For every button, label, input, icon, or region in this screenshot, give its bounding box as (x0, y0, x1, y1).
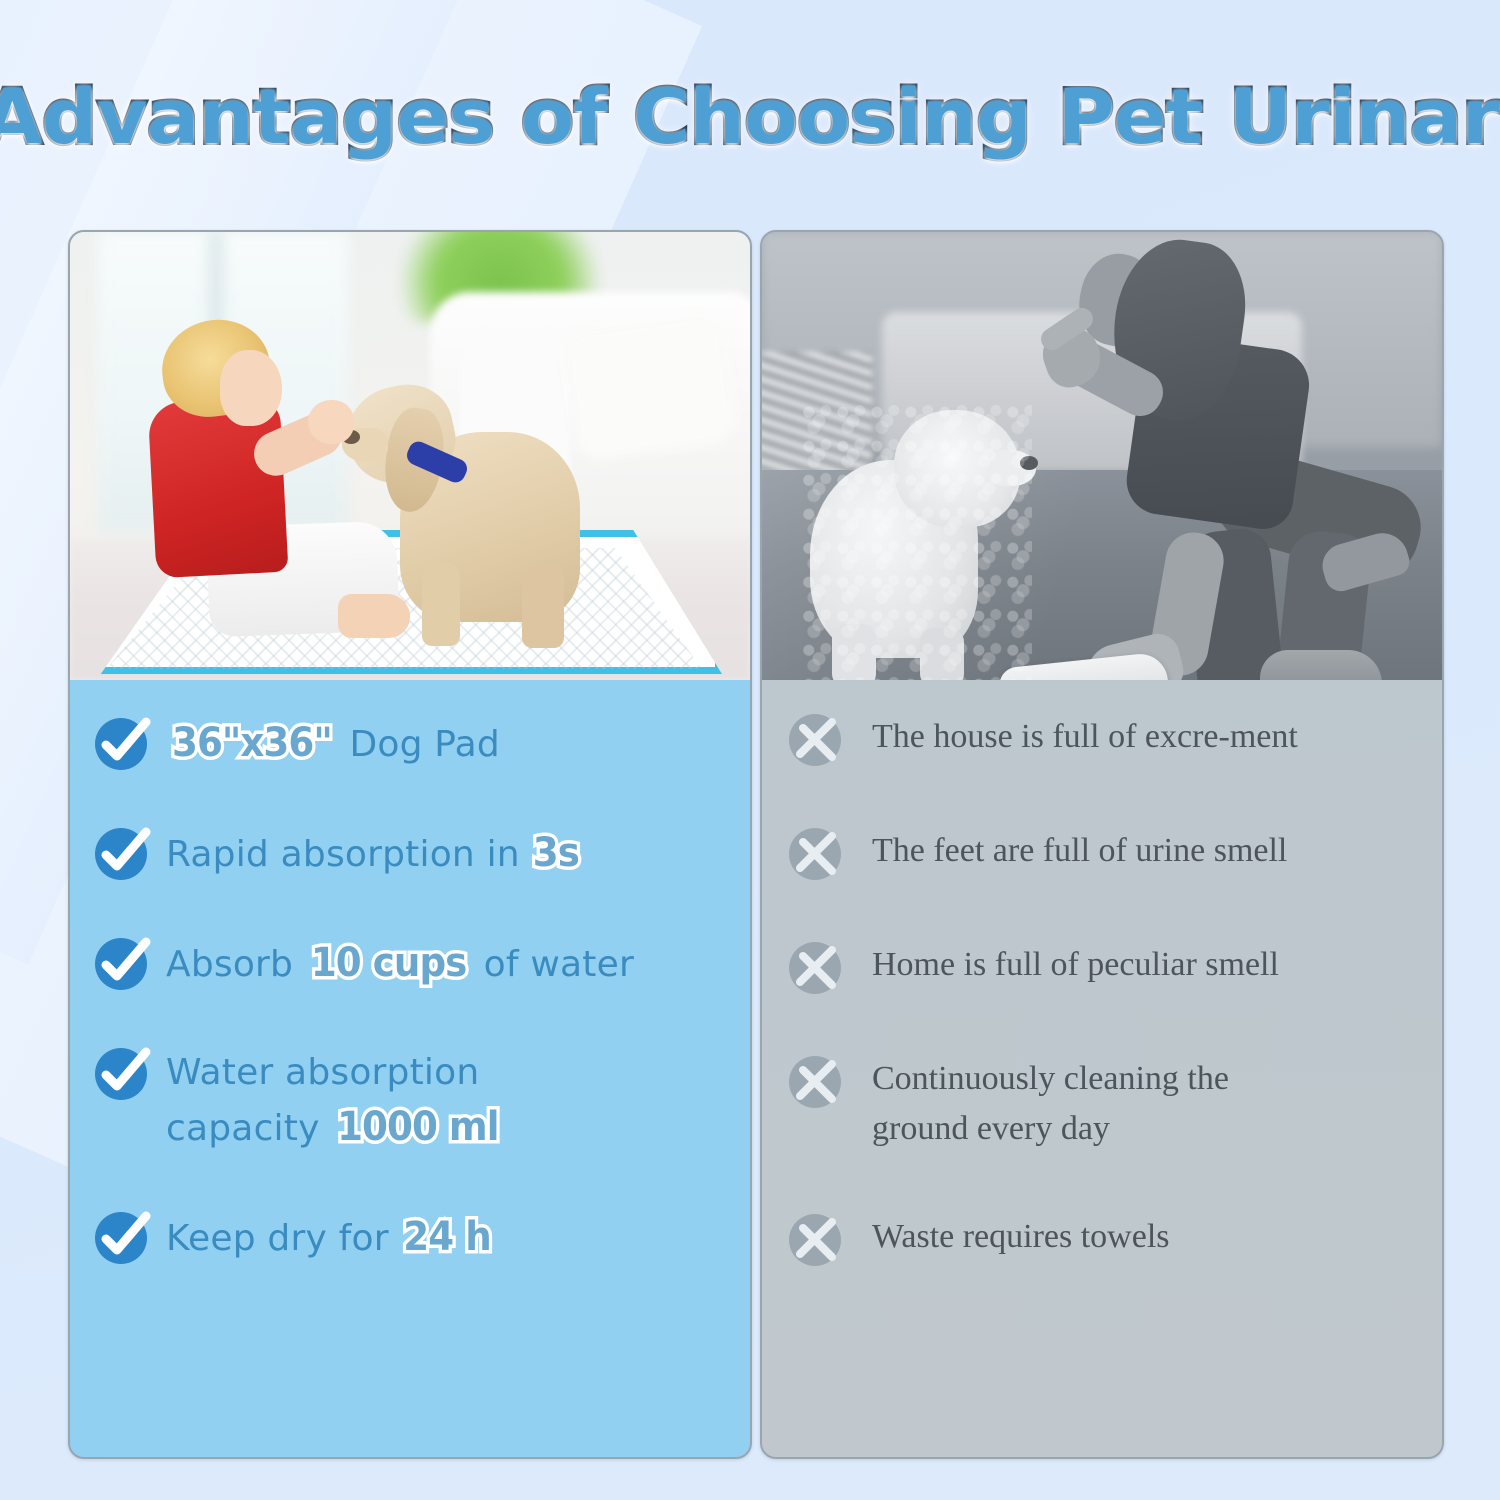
list-item-label: Continuously cleaning the ground every d… (872, 1052, 1302, 1154)
pros-list: 36"x36" Dog Pad Rapid absorption in 3s (70, 680, 750, 1455)
x-circle-icon (788, 710, 846, 768)
infographic-canvas: Advantages of Choosing Pet Urinary Mats (0, 0, 1500, 1500)
cons-panel: The house is full of excre-ment The feet… (760, 230, 1444, 1459)
boy-face-shape (220, 350, 282, 426)
check-circle-icon (94, 934, 152, 992)
list-item: Home is full of peculiar smell (762, 938, 1442, 996)
x-circle-icon (788, 824, 846, 882)
page-title: Advantages of Choosing Pet Urinary Mats (0, 74, 1500, 160)
boy-hand-shape (308, 400, 354, 444)
highlight-text: 3s (533, 826, 579, 880)
dog-curly-fur-texture (802, 402, 1032, 680)
check-circle-icon (94, 714, 152, 772)
highlight-text: 36"x36" (172, 716, 332, 770)
x-circle-icon (788, 1052, 846, 1110)
check-circle-icon (94, 1044, 152, 1102)
list-item-label: 36"x36" Dog Pad (166, 714, 500, 772)
list-item-label: Absorb 10 cups of water (166, 934, 634, 992)
plain-text: Dog Pad (338, 724, 500, 765)
list-item-label: The house is full of excre-ment (872, 710, 1298, 762)
check-circle-icon (94, 1208, 152, 1266)
x-circle-icon (788, 938, 846, 996)
plain-text: Water absorption (166, 1052, 479, 1093)
x-circle-icon (788, 1210, 846, 1268)
boy-and-puppy-on-pee-pad-photo (70, 232, 750, 680)
highlight-text: 1000 ml (337, 1100, 499, 1154)
plain-text-line2: capacity (166, 1108, 331, 1149)
woman-front-shoe-shape (1260, 650, 1382, 680)
check-circle-icon (94, 824, 152, 882)
list-item-label: Home is full of peculiar smell (872, 938, 1279, 990)
plain-text: Keep dry for (166, 1218, 400, 1259)
plain-text: Absorb (166, 944, 305, 985)
puppy-front-leg-shape (422, 562, 460, 646)
list-item: Waste requires towels (762, 1210, 1442, 1268)
list-item-label: The feet are full of urine smell (872, 824, 1287, 876)
list-item: Keep dry for 24 h (70, 1208, 750, 1266)
list-item-label: Water absorption capacity 1000 ml (166, 1044, 505, 1156)
highlight-text: 10 cups (311, 936, 467, 990)
list-item: The feet are full of urine smell (762, 824, 1442, 882)
list-item: Absorb 10 cups of water (70, 934, 750, 992)
list-item: The house is full of excre-ment (762, 710, 1442, 768)
plain-text: Rapid absorption in (166, 834, 531, 875)
list-item: Water absorption capacity 1000 ml (70, 1044, 750, 1156)
pillow-shape (562, 311, 739, 462)
puppy-hind-leg-shape (522, 566, 564, 648)
list-item-label: Keep dry for 24 h (166, 1208, 494, 1266)
pros-panel: 36"x36" Dog Pad Rapid absorption in 3s (68, 230, 752, 1459)
plain-text-after: of water (472, 944, 634, 985)
list-item: Continuously cleaning the ground every d… (762, 1052, 1442, 1154)
boy-foot-shape (338, 594, 410, 638)
cons-list: The house is full of excre-ment The feet… (762, 680, 1442, 1455)
title-container: Advantages of Choosing Pet Urinary Mats (0, 74, 1500, 160)
list-item: Rapid absorption in 3s (70, 824, 750, 882)
highlight-text: 24 h (404, 1210, 491, 1264)
list-item-label: Rapid absorption in 3s (166, 824, 581, 882)
list-item-label: Waste requires towels (872, 1210, 1170, 1262)
boy-red-shirt-shape (148, 397, 289, 579)
woman-cleaning-floor-photo (762, 232, 1442, 680)
list-item: 36"x36" Dog Pad (70, 714, 750, 772)
